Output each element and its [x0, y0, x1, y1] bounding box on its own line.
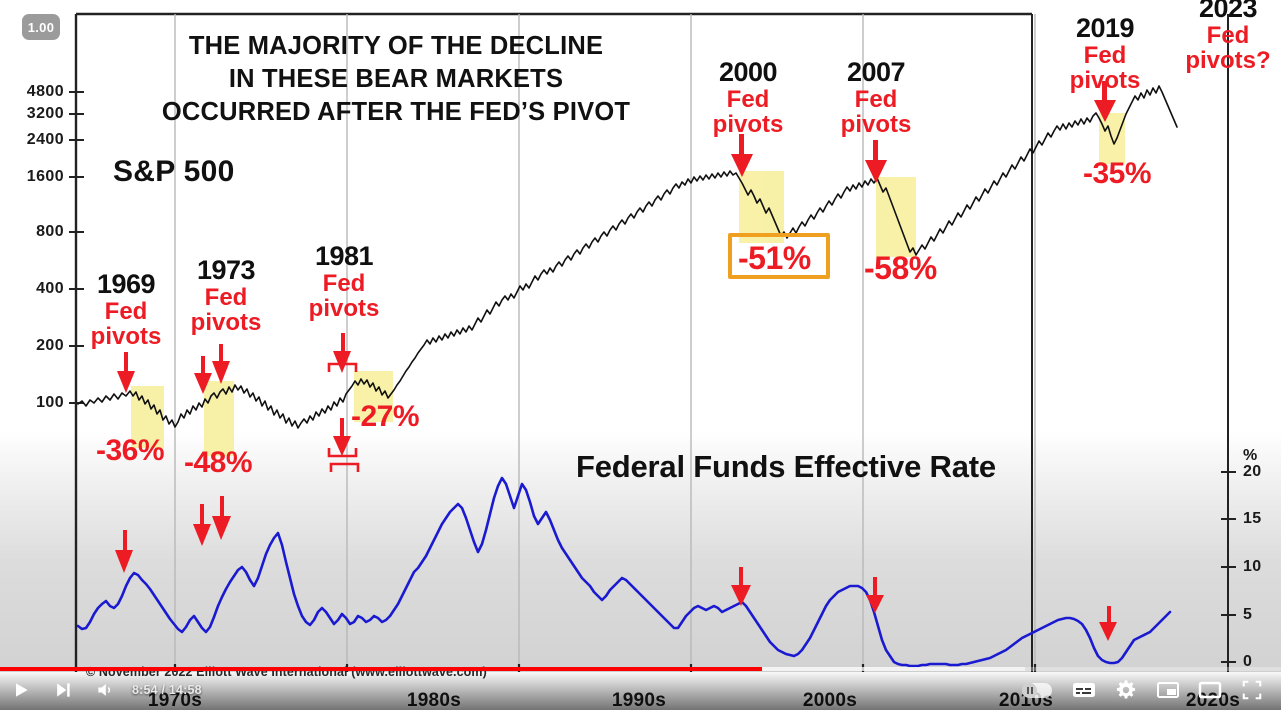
miniplayer-icon — [1156, 680, 1180, 700]
annotation-1969: 1969 Fed pivots — [70, 270, 182, 349]
annotation-1981-label2: pivots — [288, 296, 400, 321]
volume-icon — [94, 680, 116, 700]
autoplay-knob — [1022, 683, 1037, 698]
annotation-2000-label1: Fed — [692, 87, 804, 112]
next-track-icon — [53, 680, 73, 700]
annotation-2007-label2: pivots — [820, 112, 932, 137]
settings-button[interactable] — [1105, 670, 1147, 710]
annotation-2007-year: 2007 — [820, 58, 932, 87]
y-axis-label-4800: 4800 — [0, 83, 64, 101]
y2-axis-label-15: 15 — [1243, 510, 1262, 528]
fullscreen-icon — [1241, 679, 1263, 701]
autoplay-toggle-button[interactable] — [1011, 670, 1063, 710]
annotation-1973-decline: -48% — [184, 446, 252, 480]
chart-canvas: 4800 3200 2400 1600 800 400 200 100 % 20… — [0, 0, 1281, 672]
annotation-1981-decline: -27% — [351, 400, 419, 434]
time-display: 8:54 / 14:58 — [126, 683, 212, 697]
y2-axis-label-10: 10 — [1243, 558, 1262, 576]
annotation-2019-label1: Fed — [1049, 43, 1161, 68]
gear-icon — [1115, 679, 1137, 701]
play-button[interactable] — [0, 670, 42, 710]
annotation-1973-label1: Fed — [170, 285, 282, 310]
annotation-2000-decline: -51% — [738, 240, 811, 277]
y2-axis-label-20: 20 — [1243, 463, 1262, 481]
subtitles-icon — [1071, 680, 1097, 700]
annotation-2000-label2: pivots — [692, 112, 804, 137]
y-axis-label-100: 100 — [0, 394, 64, 412]
theater-mode-icon — [1198, 680, 1222, 700]
y-axis-label-2400: 2400 — [0, 131, 64, 149]
annotation-2007-decline: -58% — [864, 250, 937, 287]
annotation-2000: 2000 Fed pivots — [692, 58, 804, 137]
miniplayer-button[interactable] — [1147, 670, 1189, 710]
autoplay-toggle[interactable] — [1022, 683, 1052, 698]
y-axis-label-400: 400 — [0, 280, 64, 298]
annotation-2023-year: 2023 — [1172, 0, 1281, 23]
theater-mode-button[interactable] — [1189, 670, 1231, 710]
annotation-2000-year: 2000 — [692, 58, 804, 87]
pause-icon — [1027, 687, 1033, 694]
captions-button[interactable] — [1063, 670, 1105, 710]
annotation-2023-label2: pivots? — [1172, 48, 1281, 73]
annotation-2019-decline: -35% — [1083, 157, 1151, 191]
sp500-series-label: S&P 500 — [113, 155, 235, 189]
annotation-1969-label2: pivots — [70, 324, 182, 349]
annotation-2007: 2007 Fed pivots — [820, 58, 932, 137]
annotation-2019-label2: pivots — [1049, 68, 1161, 93]
y2-axis-label-5: 5 — [1243, 606, 1252, 624]
video-player[interactable]: 4800 3200 2400 1600 800 400 200 100 % 20… — [0, 0, 1281, 710]
annotation-1981-label1: Fed — [288, 271, 400, 296]
y-axis-label-3200: 3200 — [0, 105, 64, 123]
fullscreen-button[interactable] — [1231, 670, 1273, 710]
next-video-button[interactable] — [42, 670, 84, 710]
volume-button[interactable] — [84, 670, 126, 710]
chart-headline: THE MAJORITY OF THE DECLINE IN THESE BEA… — [110, 30, 682, 129]
annotation-1969-label1: Fed — [70, 299, 182, 324]
fedfunds-series-label: Federal Funds Effective Rate — [576, 449, 996, 485]
player-controls[interactable]: 8:54 / 14:58 — [0, 670, 1281, 710]
headline-line-2: IN THESE BEAR MARKETS — [110, 63, 682, 96]
annotation-2007-label1: Fed — [820, 87, 932, 112]
annotation-1981: 1981 Fed pivots — [288, 242, 400, 321]
y-axis-label-1600: 1600 — [0, 168, 64, 186]
y-axis-label-200: 200 — [0, 337, 64, 355]
annotation-1973: 1973 Fed pivots — [170, 256, 282, 335]
annotation-2023-label1: Fed — [1172, 23, 1281, 48]
annotation-2023: 2023 Fed pivots? — [1172, 0, 1281, 73]
annotation-1969-decline: -36% — [96, 434, 164, 468]
play-icon — [11, 680, 31, 700]
annotation-2019-year: 2019 — [1049, 14, 1161, 43]
annotation-1973-year: 1973 — [170, 256, 282, 285]
annotation-2019: 2019 Fed pivots — [1049, 14, 1161, 93]
annotation-1981-year: 1981 — [288, 242, 400, 271]
headline-line-1: THE MAJORITY OF THE DECLINE — [110, 30, 682, 63]
annotation-1973-label2: pivots — [170, 310, 282, 335]
playback-speed-badge: 1.00 — [22, 14, 60, 40]
headline-line-3: OCCURRED AFTER THE FED’S PIVOT — [110, 96, 682, 129]
annotation-1969-year: 1969 — [70, 270, 182, 299]
y-axis-label-800: 800 — [0, 223, 64, 241]
